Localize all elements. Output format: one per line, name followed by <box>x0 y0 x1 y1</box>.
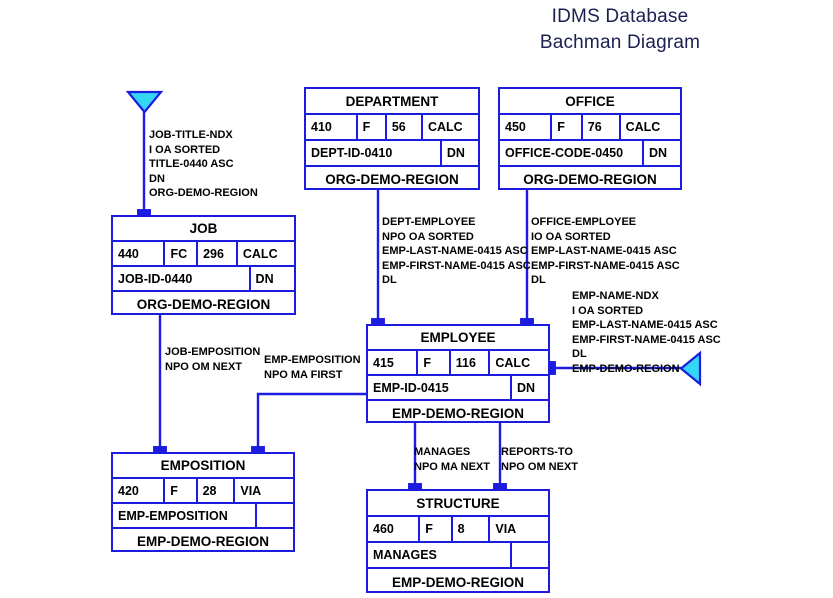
record-structure-flag: F <box>420 517 452 541</box>
set-label-office-employee: OFFICE-EMPLOYEE IO OA SORTED EMP-LAST-NA… <box>531 215 680 288</box>
record-department-key: DEPT-ID-0410 <box>306 141 442 165</box>
record-department-id: 410 <box>306 115 358 139</box>
record-office-key: OFFICE-CODE-0450 <box>500 141 644 165</box>
record-office-area: ORG-DEMO-REGION <box>500 167 680 192</box>
record-emposition-area: EMP-DEMO-REGION <box>113 529 293 554</box>
connector-emp-emposition <box>258 394 367 453</box>
record-job-id: 440 <box>113 242 165 265</box>
record-emposition-flag: F <box>165 479 197 502</box>
set-label-job-title-ndx: JOB-TITLE-NDX I OA SORTED TITLE-0440 ASC… <box>149 128 258 201</box>
record-office-mode: CALC <box>621 115 680 139</box>
record-office-length: 76 <box>583 115 621 139</box>
record-employee-name: EMPLOYEE <box>368 326 548 349</box>
set-label-emp-name-ndx: EMP-NAME-NDX I OA SORTED EMP-LAST-NAME-0… <box>572 289 721 376</box>
record-emposition-id: 420 <box>113 479 165 502</box>
record-department[interactable]: DEPARTMENT 410 F 56 CALC DEPT-ID-0410 DN… <box>304 87 480 190</box>
record-emposition-name: EMPOSITION <box>113 454 293 477</box>
record-job-name: JOB <box>113 217 294 240</box>
record-structure[interactable]: STRUCTURE 460 F 8 VIA MANAGES EMP-DEMO-R… <box>366 489 550 593</box>
index-triangle-job-title-ndx <box>128 92 161 112</box>
record-job-area: ORG-DEMO-REGION <box>113 292 294 317</box>
set-label-emp-emposition: EMP-EMPOSITION NPO MA FIRST <box>264 353 361 382</box>
record-employee-area: EMP-DEMO-REGION <box>368 401 548 425</box>
record-department-length: 56 <box>387 115 423 139</box>
record-department-area: ORG-DEMO-REGION <box>306 167 478 192</box>
record-department-flag: F <box>358 115 387 139</box>
record-office[interactable]: OFFICE 450 F 76 CALC OFFICE-CODE-0450 DN… <box>498 87 682 190</box>
record-employee-id: 415 <box>368 351 418 374</box>
record-department-dup: DN <box>442 141 478 165</box>
record-office-id: 450 <box>500 115 552 139</box>
record-structure-area: EMP-DEMO-REGION <box>368 569 548 595</box>
title-line-1: IDMS Database <box>470 4 770 30</box>
page-title: IDMS Database Bachman Diagram <box>470 4 770 56</box>
record-employee-key: EMP-ID-0415 <box>368 376 512 399</box>
record-department-mode: CALC <box>423 115 478 139</box>
record-job-dup: DN <box>251 267 294 290</box>
record-employee-length: 116 <box>451 351 491 374</box>
record-department-name: DEPARTMENT <box>306 89 478 113</box>
set-label-job-emposition: JOB-EMPOSITION NPO OM NEXT <box>165 345 260 374</box>
record-employee-flag: F <box>418 351 450 374</box>
record-emposition-mode: VIA <box>235 479 293 502</box>
record-employee[interactable]: EMPLOYEE 415 F 116 CALC EMP-ID-0415 DN E… <box>366 324 550 423</box>
record-structure-id: 460 <box>368 517 420 541</box>
record-emposition[interactable]: EMPOSITION 420 F 28 VIA EMP-EMPOSITION E… <box>111 452 295 552</box>
record-office-name: OFFICE <box>500 89 680 113</box>
set-label-dept-employee: DEPT-EMPLOYEE NPO OA SORTED EMP-LAST-NAM… <box>382 215 531 288</box>
record-job[interactable]: JOB 440 FC 296 CALC JOB-ID-0440 DN ORG-D… <box>111 215 296 315</box>
set-label-manages: MANAGES NPO MA NEXT <box>414 445 490 474</box>
record-emposition-length: 28 <box>198 479 236 502</box>
record-employee-mode: CALC <box>490 351 548 374</box>
record-employee-dup: DN <box>512 376 548 399</box>
title-line-2: Bachman Diagram <box>470 30 770 56</box>
record-job-flag: FC <box>165 242 198 265</box>
record-emposition-key: EMP-EMPOSITION <box>113 504 257 527</box>
record-structure-key: MANAGES <box>368 543 512 567</box>
record-structure-length: 8 <box>453 517 491 541</box>
record-job-key: JOB-ID-0440 <box>113 267 251 290</box>
record-office-dup: DN <box>644 141 680 165</box>
record-job-length: 296 <box>198 242 238 265</box>
record-office-flag: F <box>552 115 583 139</box>
record-emposition-dup <box>257 504 293 527</box>
record-job-mode: CALC <box>238 242 294 265</box>
record-structure-mode: VIA <box>490 517 548 541</box>
set-label-reports-to: REPORTS-TO NPO OM NEXT <box>501 445 578 474</box>
record-structure-name: STRUCTURE <box>368 491 548 515</box>
record-structure-dup <box>512 543 548 567</box>
